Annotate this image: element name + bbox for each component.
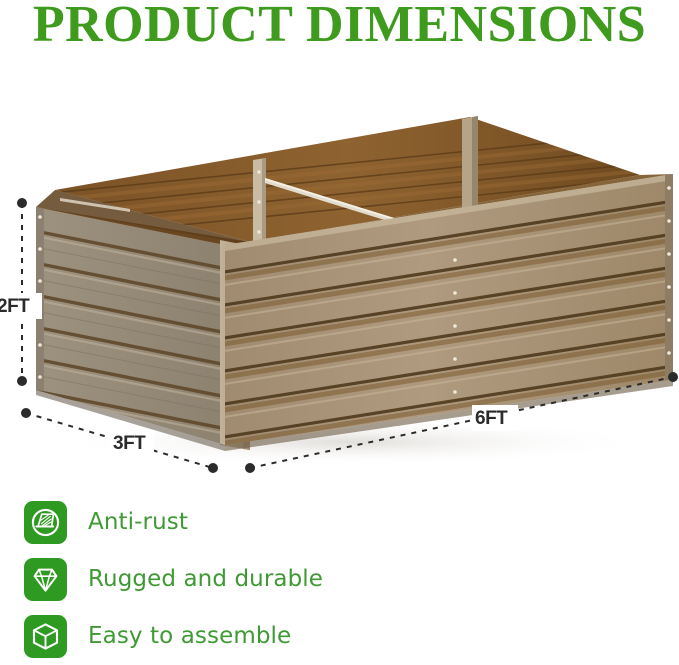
left-side-panel [30,207,232,445]
dimension-label-depth: 3FT [113,433,145,455]
feature-item-rugged-and-durable: Rugged and durable [24,551,424,608]
feature-label-rugged-and-durable: Rugged and durable [88,568,323,591]
product-illustration [0,90,679,485]
raised-garden-bed-render [0,90,679,485]
page-title: PRODUCT DIMENSIONS [0,0,679,56]
rear-corner-post [462,116,478,218]
dimension-label-width: 6FT [475,408,507,430]
feature-item-easy-to-assemble: Easy to assemble [24,608,424,665]
cube-box-icon [24,615,67,658]
diamond-icon [24,558,67,601]
feature-label-easy-to-assemble: Easy to assemble [88,625,291,648]
feature-list: Anti-rust Rugged and durable Easy to ass… [24,494,424,665]
anti-rust-icon [24,501,67,544]
feature-item-anti-rust: Anti-rust [24,494,424,551]
dimension-label-height: 2FT [0,296,29,318]
feature-label-anti-rust: Anti-rust [88,511,188,534]
